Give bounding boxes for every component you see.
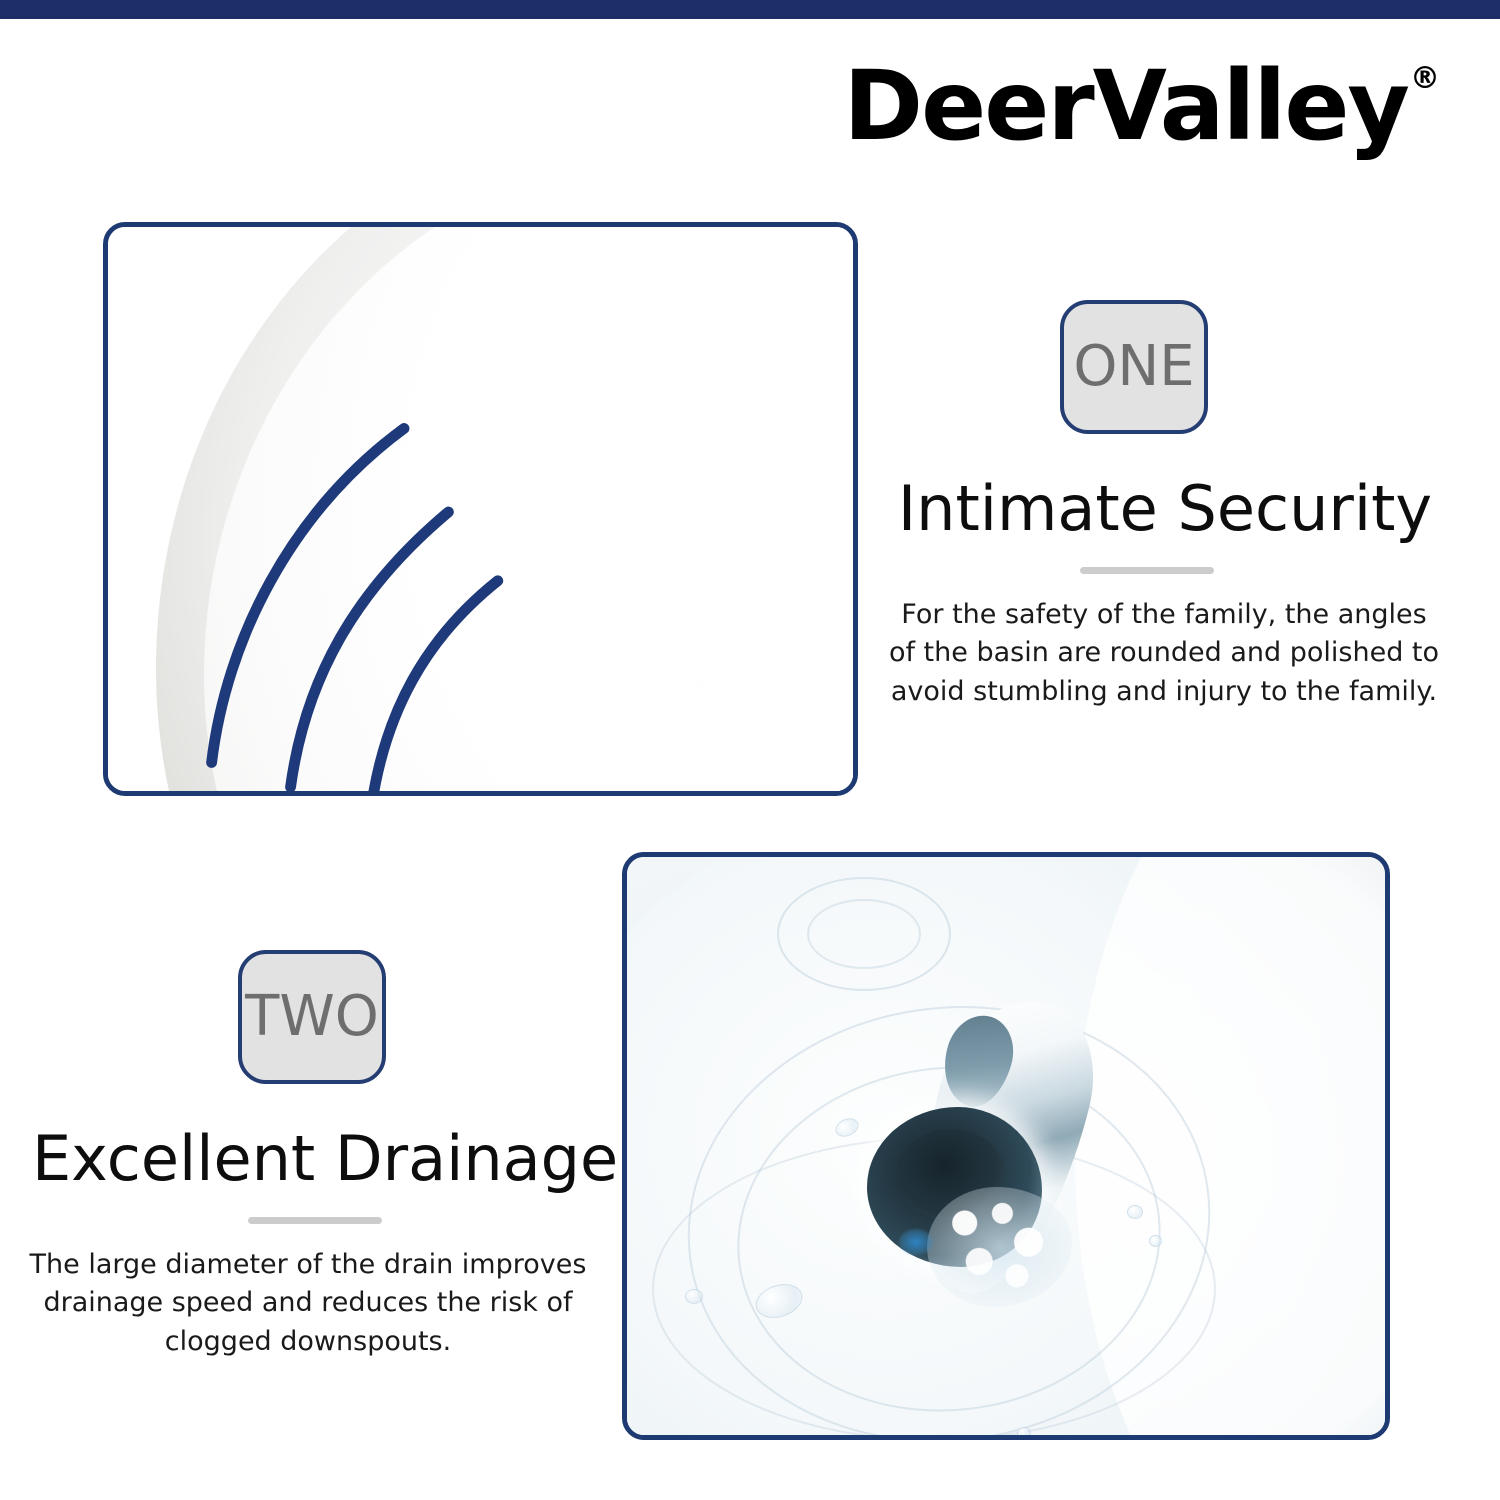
basin-photo-panel: [103, 222, 858, 796]
feature-badge-one-label: ONE: [1073, 339, 1194, 395]
registered-trademark-icon: ®: [1410, 64, 1440, 94]
feature-one-divider: [1080, 567, 1214, 574]
feature-badge-one: ONE: [1060, 300, 1208, 434]
water-droplet: [1127, 1205, 1143, 1219]
water-ripple: [807, 899, 921, 969]
brand-name: DeerValley: [843, 58, 1408, 154]
basin-photo: [108, 227, 853, 791]
top-accent-bar: [0, 0, 1500, 19]
feature-one-description: For the safety of the family, the angles…: [888, 596, 1440, 711]
drain-photo-panel: [622, 852, 1390, 1440]
feature-two-title: Excellent Drainage: [32, 1126, 618, 1191]
water-droplet: [685, 1289, 703, 1304]
feature-badge-two-label: TWO: [245, 989, 379, 1045]
feature-two-description: The large diameter of the drain improves…: [28, 1246, 588, 1361]
drain-photo: [627, 857, 1385, 1435]
infographic-page: DeerValley ® ONE Intimate Security For t…: [0, 0, 1500, 1500]
feature-block-one: ONE Intimate Security For the safety of …: [880, 300, 1440, 711]
water-droplet: [1017, 1427, 1031, 1440]
feature-one-title: Intimate Security: [890, 476, 1440, 541]
feature-badge-two: TWO: [238, 950, 386, 1084]
feature-block-two: TWO Excellent Drainage The large diamete…: [18, 950, 618, 1361]
water-droplet: [1149, 1235, 1162, 1247]
water-blue-reflection: [899, 1229, 933, 1255]
feature-two-divider: [248, 1217, 382, 1224]
brand-logo: DeerValley ®: [900, 58, 1440, 178]
